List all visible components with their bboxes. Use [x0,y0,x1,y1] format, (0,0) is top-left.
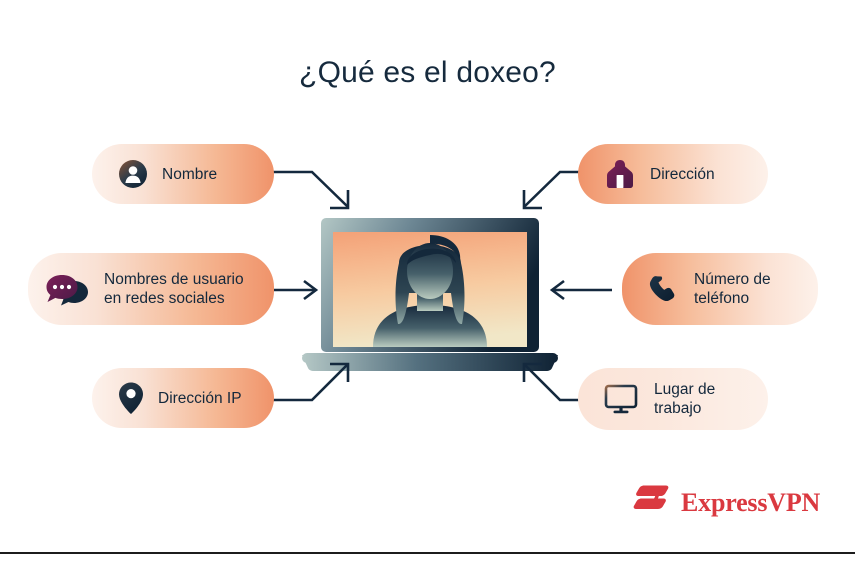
laptop-svg [290,205,570,375]
person-icon [118,159,148,189]
item-pill-trabajo[interactable]: Lugar de trabajo [578,368,768,430]
map-pin-icon [118,381,144,415]
expressvpn-wordmark: ExpressVPN [681,488,820,518]
arrow-telefono-to-laptop [548,283,614,305]
item-pill-social[interactable]: Nombres de usuario en redes sociales [28,253,274,325]
page-title: ¿Qué es el doxeo? [0,56,855,90]
item-pill-nombre[interactable]: Nombre [92,144,274,204]
house-icon [604,158,636,190]
item-label-nombre: Nombre [162,165,217,184]
item-label-direccion: Dirección [650,165,715,184]
item-label-ip: Dirección IP [158,389,242,408]
infographic-canvas: ¿Qué es el doxeo? [0,0,855,561]
expressvpn-e-mark-icon [632,483,670,522]
laptop-illustration [290,205,570,375]
arrow-nombre-to-laptop [268,166,368,216]
phone-icon [648,274,678,304]
item-label-social: Nombres de usuario en redes sociales [104,270,244,308]
item-pill-telefono[interactable]: Número de teléfono [622,253,818,325]
item-pill-direccion[interactable]: Dirección [578,144,768,204]
expressvpn-logo: ExpressVPN [632,483,820,522]
monitor-icon [604,384,638,414]
item-label-trabajo: Lugar de trabajo [654,380,715,418]
bottom-divider [0,552,855,554]
item-label-telefono: Número de teléfono [694,270,771,308]
chat-bubbles-icon [46,269,92,309]
item-pill-ip[interactable]: Dirección IP [92,368,274,428]
arrow-ip-to-laptop [268,356,368,406]
